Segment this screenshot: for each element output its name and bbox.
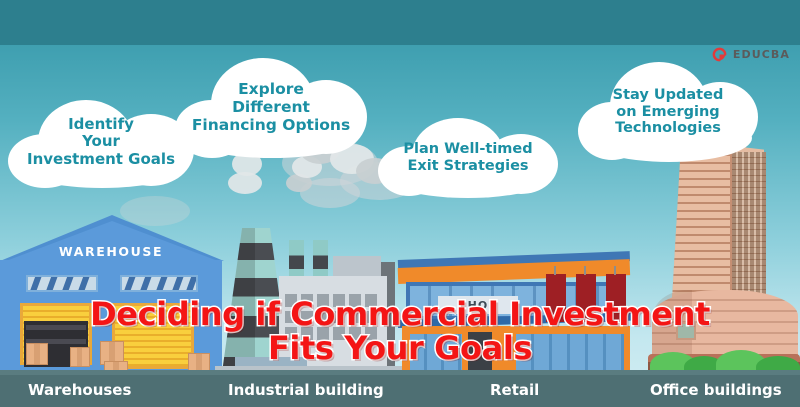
- educba-wordmark: EDUCBA: [733, 48, 790, 61]
- headline-line-1: Deciding if Commercial Investment: [0, 298, 800, 332]
- office-tower-floors: [672, 140, 730, 300]
- category-label-industrial: Industrial building: [228, 381, 384, 399]
- factory-roof-block: [333, 256, 381, 276]
- callout-cloud-exit-strategies: Plan Well-timed Exit Strategies: [378, 118, 558, 198]
- warehouse-window: [26, 275, 98, 292]
- category-label-retail: Retail: [490, 381, 539, 399]
- educba-logo[interactable]: EDUCBA: [711, 46, 790, 63]
- office-tower-window-grid: [732, 152, 766, 300]
- educba-swirl-icon: [711, 46, 728, 63]
- warehouse-window: [120, 275, 198, 292]
- callout-cloud-text: Plan Well-timed Exit Strategies: [378, 118, 558, 198]
- callout-cloud-emerging-tech: Stay Updated on Emerging Technologies: [578, 62, 758, 162]
- callout-cloud-financing-options: Explore Different Financing Options: [175, 58, 367, 158]
- callout-cloud-text: Identify Your Investment Goals: [8, 96, 194, 190]
- infographic-canvas: WAREHOUSE SHOP: [0, 0, 800, 407]
- callout-cloud-text: Stay Updated on Emerging Technologies: [578, 62, 758, 162]
- header-bar: [0, 0, 800, 45]
- headline-line-2: Fits Your Goals: [0, 332, 800, 366]
- callout-cloud-text: Explore Different Financing Options: [175, 58, 367, 158]
- overlay-headline: Deciding if Commercial Investment Fits Y…: [0, 298, 800, 365]
- callout-cloud-identify-goals: Identify Your Investment Goals: [8, 96, 194, 188]
- category-label-office: Office buildings: [650, 381, 782, 399]
- warehouse-sign-text: WAREHOUSE: [0, 244, 222, 259]
- category-label-warehouses: Warehouses: [28, 381, 131, 399]
